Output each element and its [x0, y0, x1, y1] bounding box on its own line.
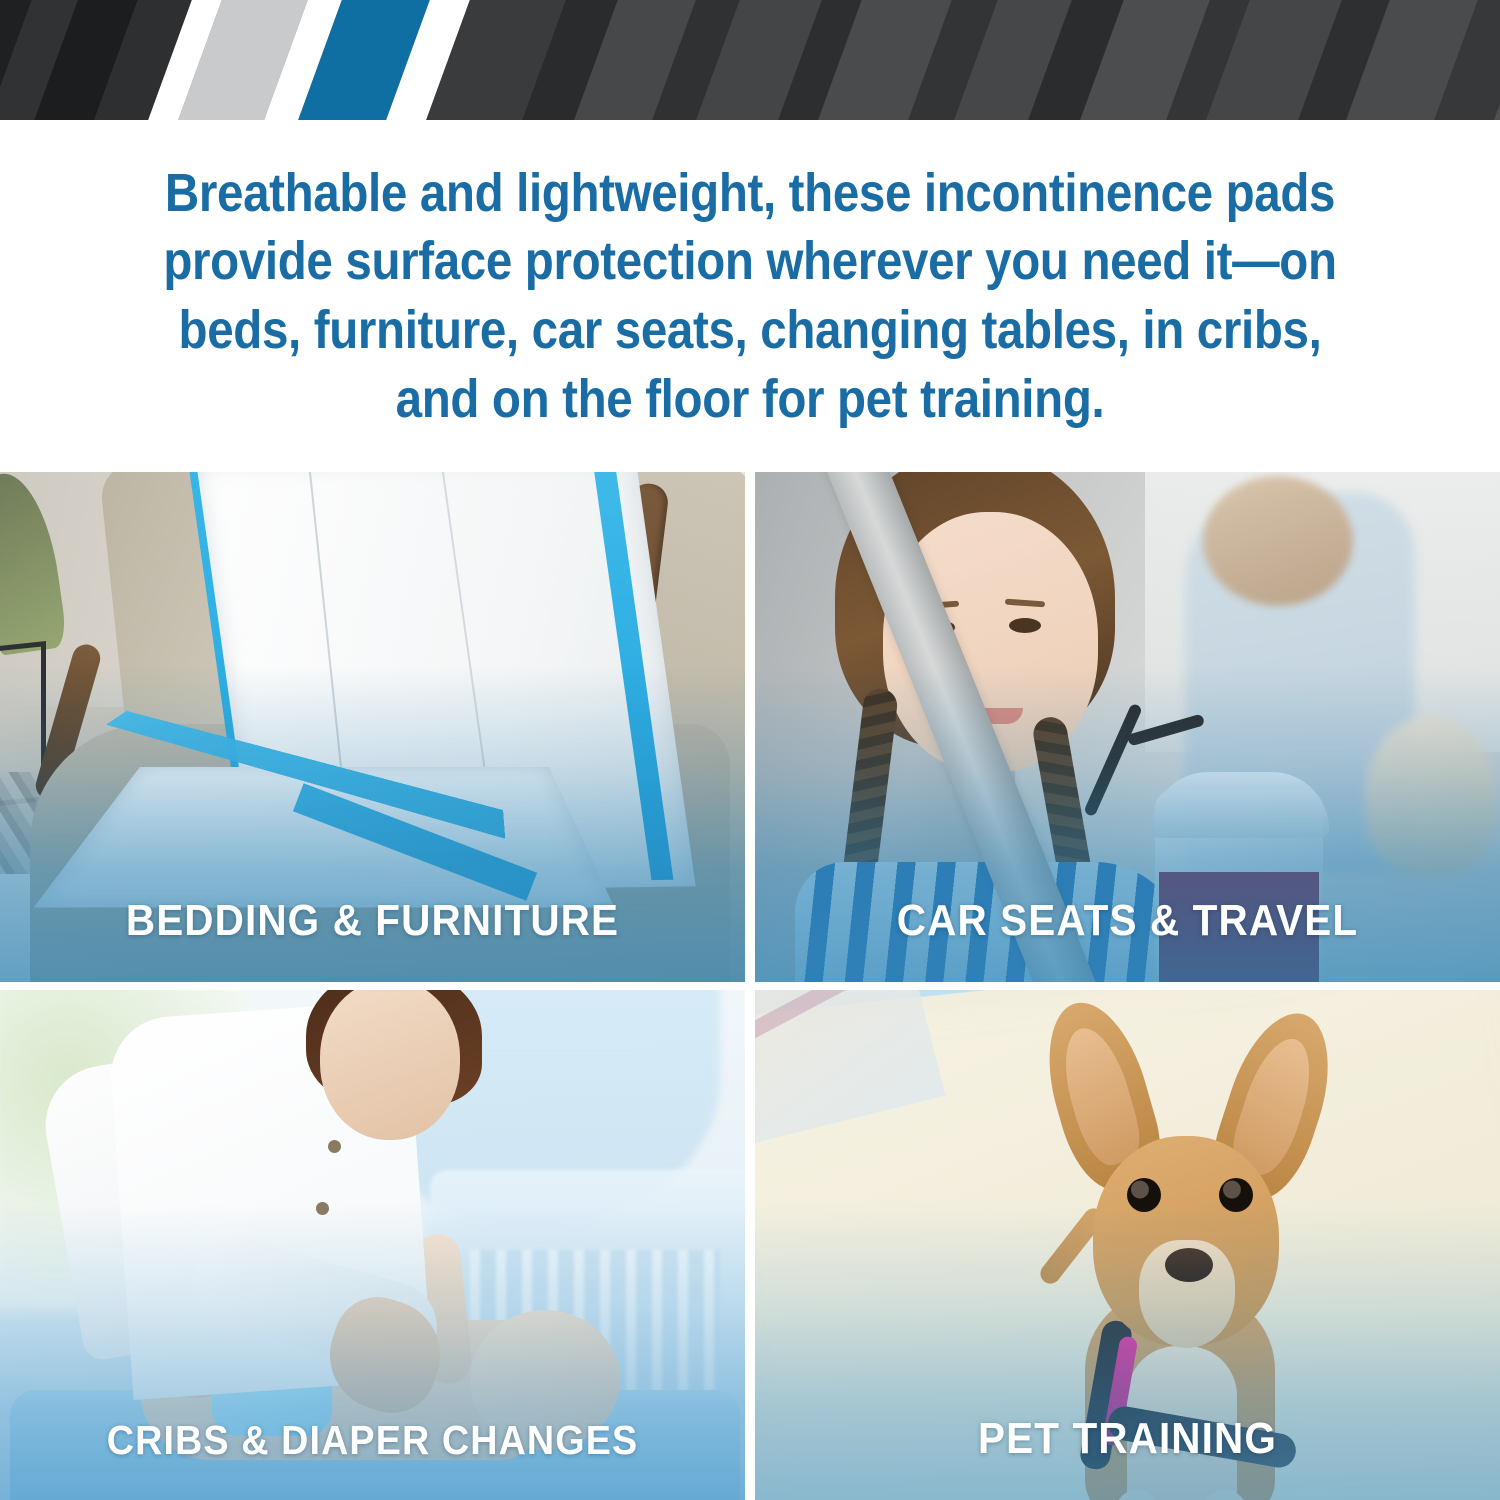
caption-car-seats-travel: CAR SEATS & TRAVEL: [785, 896, 1470, 946]
caption-pet-training: PET TRAINING: [785, 1414, 1470, 1464]
headline-section: Breathable and lightweight, these incont…: [0, 120, 1500, 472]
use-case-card-bedding-furniture[interactable]: BEDDING & FURNITURE: [0, 472, 745, 982]
grid-gap-vertical-top: [745, 472, 755, 982]
grid-gap-vertical-bottom: [745, 990, 755, 1500]
grid-gap-horizontal: [0, 982, 1500, 990]
use-case-card-cribs-diaper-changes[interactable]: CRIBS & DIAPER CHANGES: [0, 990, 745, 1500]
diagonal-stripe-banner: [0, 0, 1500, 120]
caption-bedding-furniture: BEDDING & FURNITURE: [30, 896, 715, 946]
headline-text: Breathable and lightweight, these incont…: [134, 159, 1366, 433]
use-case-grid: BEDDING & FURNITURE CAR SEATS & TRAVEL: [0, 472, 1500, 1500]
use-case-card-car-seats-travel[interactable]: CAR SEATS & TRAVEL: [755, 472, 1500, 982]
use-case-card-pet-training[interactable]: PET TRAINING: [755, 990, 1500, 1500]
product-infographic: Breathable and lightweight, these incont…: [0, 0, 1500, 1500]
caption-cribs-diaper-changes: CRIBS & DIAPER CHANGES: [30, 1417, 715, 1464]
